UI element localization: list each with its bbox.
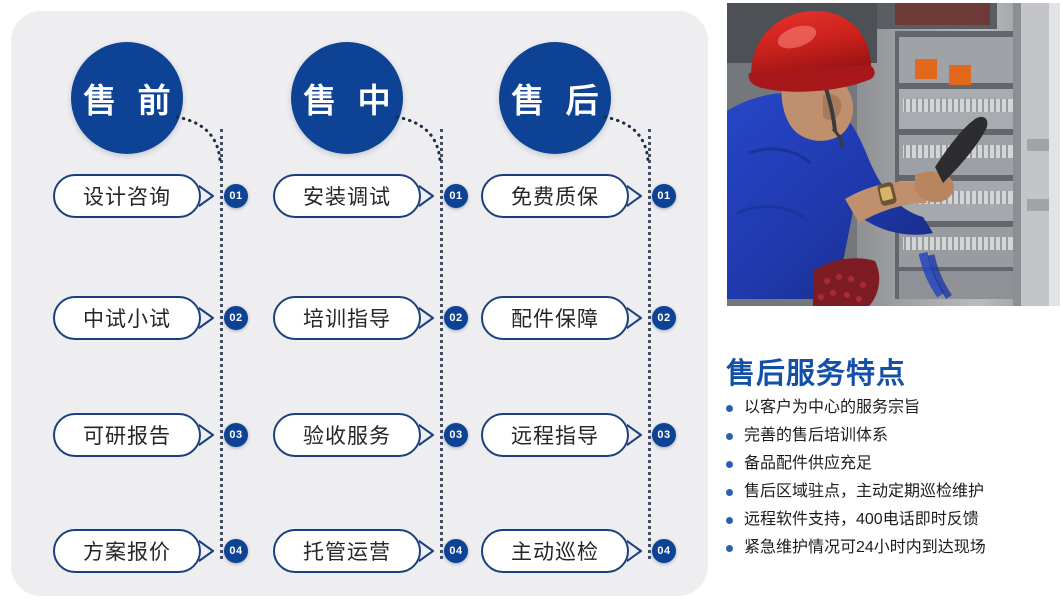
chip-arrow-icon: [419, 539, 441, 563]
flow-item-label[interactable]: 配件保障: [481, 296, 629, 340]
flow-item-number-badge[interactable]: 04: [224, 539, 248, 563]
flow-item[interactable]: 培训指导 02: [273, 296, 465, 340]
stage-column-aftersale: 售 后 免费质保 01 配件保障 02 远程指导 03: [463, 11, 673, 596]
flow-item[interactable]: 主动巡检 04: [481, 529, 673, 573]
flow-item-number-badge[interactable]: 01: [224, 184, 248, 208]
chip-arrow-icon: [199, 539, 221, 563]
list-item: 备品配件供应充足: [726, 454, 1056, 474]
list-item: 完善的售后培训体系: [726, 426, 1056, 446]
flow-item-label[interactable]: 中试小试: [53, 296, 201, 340]
flow-item[interactable]: 方案报价 04: [53, 529, 245, 573]
stage-circle-insale[interactable]: 售 中: [291, 42, 403, 154]
bullet-dot-icon: [726, 489, 733, 496]
chip-arrow-icon: [419, 306, 441, 330]
flow-item-label[interactable]: 设计咨询: [53, 174, 201, 218]
flow-item-number-badge[interactable]: 01: [652, 184, 676, 208]
stage-column-insale: 售 中 安装调试 01 培训指导 02 验收服务 03: [255, 11, 465, 596]
flow-item-number-badge[interactable]: 02: [652, 306, 676, 330]
flow-item[interactable]: 验收服务 03: [273, 413, 465, 457]
bullet-dot-icon: [726, 461, 733, 468]
flow-item-number-badge[interactable]: 03: [224, 423, 248, 447]
flow-item-label[interactable]: 托管运营: [273, 529, 421, 573]
flow-item-label[interactable]: 培训指导: [273, 296, 421, 340]
stage-circle-presale[interactable]: 售 前: [71, 42, 183, 154]
bullet-dot-icon: [726, 433, 733, 440]
flow-item[interactable]: 托管运营 04: [273, 529, 465, 573]
bullet-dot-icon: [726, 545, 733, 552]
flow-item[interactable]: 远程指导 03: [481, 413, 673, 457]
connector-curve-icon: [395, 111, 445, 163]
connector-curve-icon: [603, 111, 653, 163]
chip-arrow-icon: [627, 306, 649, 330]
list-item: 售后区域驻点，主动定期巡检维护: [726, 482, 1056, 502]
stage-circle-aftersale[interactable]: 售 后: [499, 42, 611, 154]
connector-curve-icon: [175, 111, 225, 163]
flow-item[interactable]: 配件保障 02: [481, 296, 673, 340]
chip-arrow-icon: [199, 306, 221, 330]
bullet-dot-icon: [726, 517, 733, 524]
flow-item-label[interactable]: 可研报告: [53, 413, 201, 457]
feature-list: 以客户为中心的服务宗旨 完善的售后培训体系 备品配件供应充足 售后区域驻点，主动…: [726, 398, 1056, 566]
chip-arrow-icon: [627, 184, 649, 208]
list-item-label: 远程软件支持，400电话即时反馈: [744, 511, 979, 528]
list-item-label: 紧急维护情况可24小时内到达现场: [744, 539, 986, 556]
list-item-label: 完善的售后培训体系: [744, 427, 888, 444]
flow-item-number-badge[interactable]: 03: [652, 423, 676, 447]
list-item-label: 以客户为中心的服务宗旨: [744, 399, 920, 416]
bullet-dot-icon: [726, 405, 733, 412]
service-flow-panel: 售 前 设计咨询 01 中试小试 02 可研报告 03: [11, 11, 708, 596]
chip-arrow-icon: [419, 423, 441, 447]
flow-item-label[interactable]: 安装调试: [273, 174, 421, 218]
chip-arrow-icon: [199, 184, 221, 208]
flow-item-label[interactable]: 验收服务: [273, 413, 421, 457]
flow-item[interactable]: 免费质保 01: [481, 174, 673, 218]
list-item: 远程软件支持，400电话即时反馈: [726, 510, 1056, 530]
chip-arrow-icon: [627, 423, 649, 447]
flow-item-label[interactable]: 方案报价: [53, 529, 201, 573]
list-item-label: 备品配件供应充足: [744, 455, 872, 472]
flow-item-number-badge[interactable]: 04: [652, 539, 676, 563]
chip-arrow-icon: [627, 539, 649, 563]
flow-item[interactable]: 设计咨询 01: [53, 174, 245, 218]
flow-item-number-badge[interactable]: 02: [224, 306, 248, 330]
sidebar-title: 售后服务特点: [726, 350, 906, 392]
flow-item[interactable]: 中试小试 02: [53, 296, 245, 340]
chip-arrow-icon: [419, 184, 441, 208]
flow-item-label[interactable]: 主动巡检: [481, 529, 629, 573]
list-item-label: 售后区域驻点，主动定期巡检维护: [744, 483, 984, 500]
stage-column-presale: 售 前 设计咨询 01 中试小试 02 可研报告 03: [35, 11, 245, 596]
flow-item-label[interactable]: 免费质保: [481, 174, 629, 218]
flow-item[interactable]: 安装调试 01: [273, 174, 465, 218]
technician-photo: [727, 3, 1060, 306]
list-item: 紧急维护情况可24小时内到达现场: [726, 538, 1056, 558]
flow-item[interactable]: 可研报告 03: [53, 413, 245, 457]
flow-item-label[interactable]: 远程指导: [481, 413, 629, 457]
chip-arrow-icon: [199, 423, 221, 447]
list-item: 以客户为中心的服务宗旨: [726, 398, 1056, 418]
